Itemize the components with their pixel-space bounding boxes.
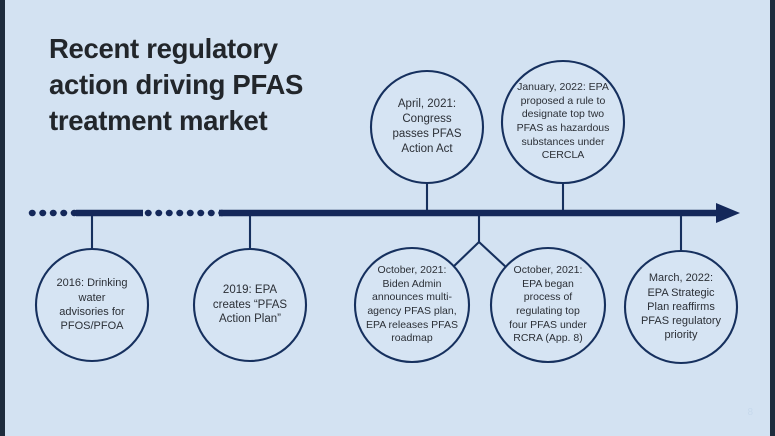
axis-arrow-head: [716, 203, 740, 223]
event-label-2019: 2019: EPA creates “PFAS Action Plan”: [194, 249, 306, 361]
timeline-diagram: [0, 0, 775, 436]
event-label-march-2022: March, 2022: EPA Strategic Plan reaffirm…: [625, 251, 737, 363]
event-label-2016: 2016: Drinking water advisories for PFOS…: [36, 249, 148, 361]
timeline-axis: [32, 203, 740, 223]
page-number: 8: [747, 407, 753, 418]
slide-canvas: Recent regulatory action driving PFAS tr…: [0, 0, 775, 436]
event-label-april-2021: April, 2021: Congress passes PFAS Action…: [371, 71, 483, 183]
event-label-october-2021-rcra: October, 2021: EPA began process of regu…: [491, 248, 605, 362]
event-label-january-2022: January, 2022: EPA proposed a rule to de…: [502, 61, 624, 183]
event-label-october-2021-biden: October, 2021: Biden Admin announces mul…: [355, 248, 469, 362]
